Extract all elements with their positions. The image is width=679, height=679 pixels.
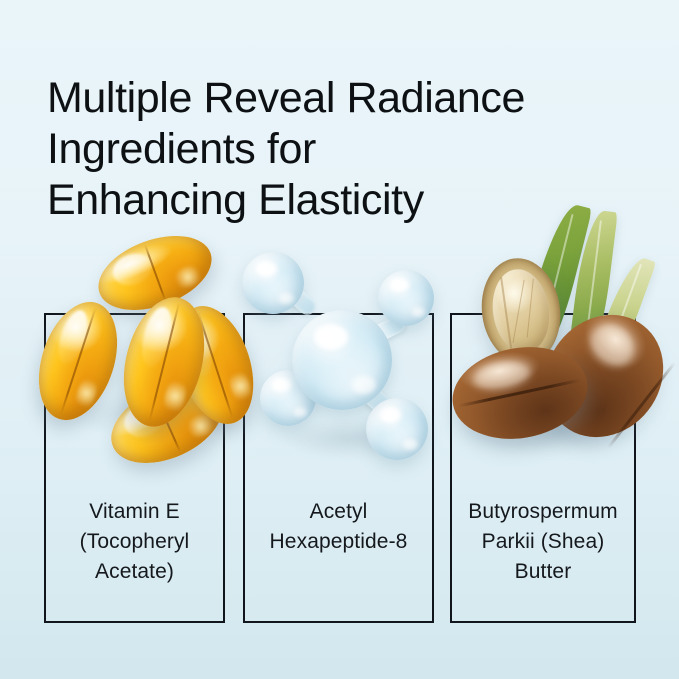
page-title: Multiple Reveal Radiance Ingredients for…	[47, 73, 647, 226]
ingredient-caption-acetyl-hexapeptide-8: Acetyl Hexapeptide-8	[245, 497, 432, 557]
softgel-capsule	[88, 222, 221, 324]
ingredient-panel-acetyl-hexapeptide-8: Acetyl Hexapeptide-8	[243, 313, 434, 623]
ingredient-panel-vitamin-e: Vitamin E (Tocopheryl Acetate)	[44, 313, 225, 623]
ingredient-caption-vitamin-e: Vitamin E (Tocopheryl Acetate)	[46, 497, 223, 587]
ingredient-panel-group: Vitamin E (Tocopheryl Acetate) Acetyl He…	[44, 313, 636, 623]
molecule-atom	[242, 252, 304, 314]
ingredient-infographic: Multiple Reveal Radiance Ingredients for…	[0, 0, 679, 679]
ingredient-panel-shea-butter: Butyrospermum Parkii (Shea) Butter	[450, 313, 636, 623]
ingredient-caption-shea-butter: Butyrospermum Parkii (Shea) Butter	[452, 497, 634, 587]
